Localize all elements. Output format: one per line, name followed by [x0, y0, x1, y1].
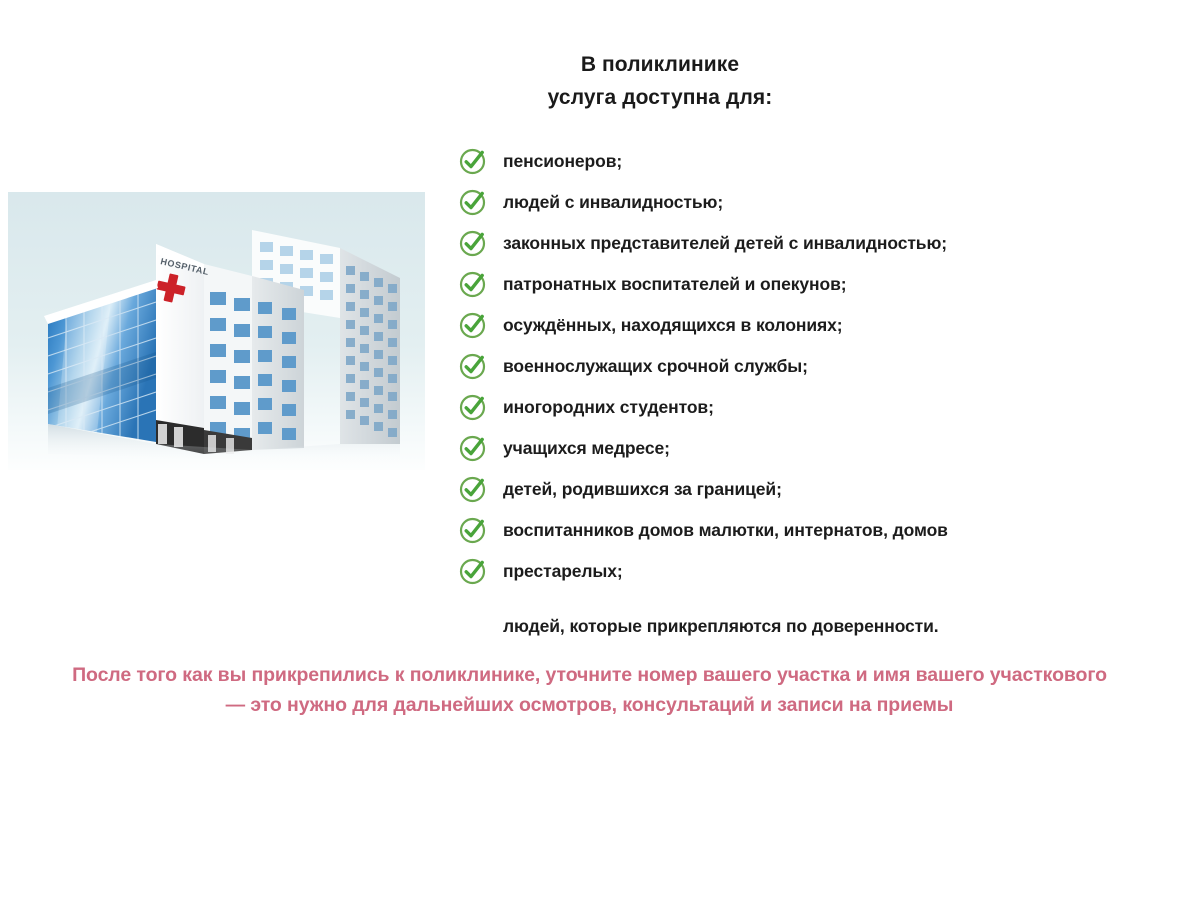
green-check-circle-icon [458, 351, 488, 381]
page-title-line-2: услуга доступна для: [350, 81, 970, 114]
list-item: детей, родившихся за границей; [458, 468, 1098, 509]
list-item: пенсионеров; [458, 140, 1098, 181]
list-item-label: детей, родившихся за границей; [503, 478, 782, 500]
hospital-building-svg: HOSPITAL [8, 192, 425, 470]
list-item-label: престарелых; [503, 560, 623, 582]
green-check-circle-icon [458, 146, 488, 176]
footer-note-line-1: После того как вы прикрепились к поликли… [0, 660, 1179, 690]
list-item-label: осуждённых, находящихся в колониях; [503, 314, 843, 336]
list-item: людей с инвалидностью; [458, 181, 1098, 222]
green-check-circle-icon [458, 228, 488, 258]
list-item: осуждённых, находящихся в колониях; [458, 304, 1098, 345]
hospital-illustration-canvas: HOSPITAL [8, 192, 425, 470]
list-item: законных представителей детей с инвалидн… [458, 222, 1098, 263]
green-check-circle-icon [458, 392, 488, 422]
list-item-label: пенсионеров; [503, 150, 622, 172]
list-item: престарелых; [458, 550, 1098, 591]
green-check-circle-icon [458, 433, 488, 463]
list-item-label: законных представителей детей с инвалидн… [503, 232, 947, 254]
green-check-circle-icon [458, 556, 488, 586]
list-item: людей, которые прикрепляются по доверенн… [458, 591, 1098, 641]
list-item: воспитанников домов малютки, интернатов,… [458, 509, 1098, 550]
footer-note: После того как вы прикрепились к поликли… [0, 660, 1179, 720]
green-check-circle-icon [458, 269, 488, 299]
list-item-label: военнослужащих срочной службы; [503, 355, 808, 377]
list-item-label: иногородних студентов; [503, 396, 714, 418]
page-title-line-1: В поликлинике [350, 48, 970, 81]
list-item: патронатных воспитателей и опекунов; [458, 263, 1098, 304]
list-item-label: патронатных воспитателей и опекунов; [503, 273, 846, 295]
list-item-label: учащихся медресе; [503, 437, 670, 459]
list-item-label: людей с инвалидностью; [503, 191, 723, 213]
green-check-circle-icon [458, 474, 488, 504]
list-item: учащихся медресе; [458, 427, 1098, 468]
footer-note-line-2: — это нужно для дальнейших осмотров, кон… [0, 690, 1179, 720]
page-title: В поликлинике услуга доступна для: [350, 48, 970, 114]
list-item: военнослужащих срочной службы; [458, 345, 1098, 386]
list-item-label: воспитанников домов малютки, интернатов,… [503, 519, 948, 541]
green-check-circle-icon [458, 310, 488, 340]
green-check-circle-icon [458, 187, 488, 217]
list-item: иногородних студентов; [458, 386, 1098, 427]
eligibility-checklist: пенсионеров; людей с инвалидностью; зако… [458, 140, 1098, 641]
list-item-label: людей, которые прикрепляются по доверенн… [503, 615, 939, 637]
hospital-building-illustration: HOSPITAL [8, 192, 425, 470]
green-check-circle-icon [458, 515, 488, 545]
